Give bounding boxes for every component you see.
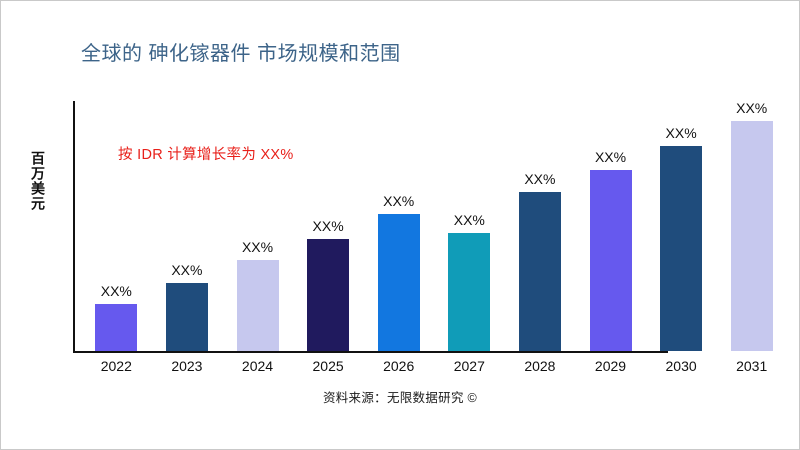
x-tick-2023: 2023 bbox=[171, 358, 202, 374]
bar-2026: XX% bbox=[378, 101, 420, 351]
bar-2030: XX% bbox=[660, 101, 702, 351]
bar-value-label: XX% bbox=[313, 218, 344, 234]
x-tick-2027: 2027 bbox=[454, 358, 485, 374]
source-note: 资料来源：无限数据研究 © bbox=[1, 387, 799, 406]
bar-value-label: XX% bbox=[101, 283, 132, 299]
bar-value-label: XX% bbox=[383, 193, 414, 209]
x-tick-2029: 2029 bbox=[595, 358, 626, 374]
chart-canvas: 全球的 砷化镓器件 市场规模和范围 百万美元 按 IDR 计算增长率为 XX% … bbox=[0, 0, 800, 450]
y-axis-label: 百万美元 bbox=[15, 151, 45, 211]
bar-rect bbox=[378, 214, 420, 351]
bar-2028: XX% bbox=[519, 101, 561, 351]
bar-2024: XX% bbox=[237, 101, 279, 351]
x-axis-line bbox=[73, 351, 668, 353]
x-tick-2030: 2030 bbox=[666, 358, 697, 374]
bar-rect bbox=[95, 304, 137, 351]
x-tick-2026: 2026 bbox=[383, 358, 414, 374]
bar-value-label: XX% bbox=[454, 212, 485, 228]
x-tick-2024: 2024 bbox=[242, 358, 273, 374]
bar-value-label: XX% bbox=[524, 171, 555, 187]
bar-rect bbox=[731, 121, 773, 351]
page-title: 全球的 砷化镓器件 市场规模和范围 bbox=[81, 37, 401, 66]
bar-2025: XX% bbox=[307, 101, 349, 351]
bar-2027: XX% bbox=[448, 101, 490, 351]
bar-rect bbox=[660, 146, 702, 351]
bar-rect bbox=[237, 260, 279, 351]
bar-value-label: XX% bbox=[736, 100, 767, 116]
bar-value-label: XX% bbox=[171, 262, 202, 278]
x-tick-2028: 2028 bbox=[524, 358, 555, 374]
bar-2022: XX% bbox=[95, 101, 137, 351]
bar-2031: XX% bbox=[731, 101, 773, 351]
x-axis-tick-labels: 2022202320242025202620272028202920302031 bbox=[73, 358, 779, 380]
plot-area: 按 IDR 计算增长率为 XX% XX%XX%XX%XX%XX%XX%XX%XX… bbox=[73, 101, 779, 353]
x-tick-2025: 2025 bbox=[313, 358, 344, 374]
bar-rect bbox=[307, 239, 349, 351]
bar-series: XX%XX%XX%XX%XX%XX%XX%XX%XX%XX% bbox=[73, 101, 779, 351]
bar-value-label: XX% bbox=[595, 149, 626, 165]
bar-value-label: XX% bbox=[242, 239, 273, 255]
bar-rect bbox=[519, 192, 561, 351]
bar-2029: XX% bbox=[590, 101, 632, 351]
bar-rect bbox=[448, 233, 490, 351]
x-tick-2022: 2022 bbox=[101, 358, 132, 374]
bar-rect bbox=[590, 170, 632, 351]
x-tick-2031: 2031 bbox=[736, 358, 767, 374]
bar-value-label: XX% bbox=[666, 125, 697, 141]
bar-rect bbox=[166, 283, 208, 351]
bar-2023: XX% bbox=[166, 101, 208, 351]
